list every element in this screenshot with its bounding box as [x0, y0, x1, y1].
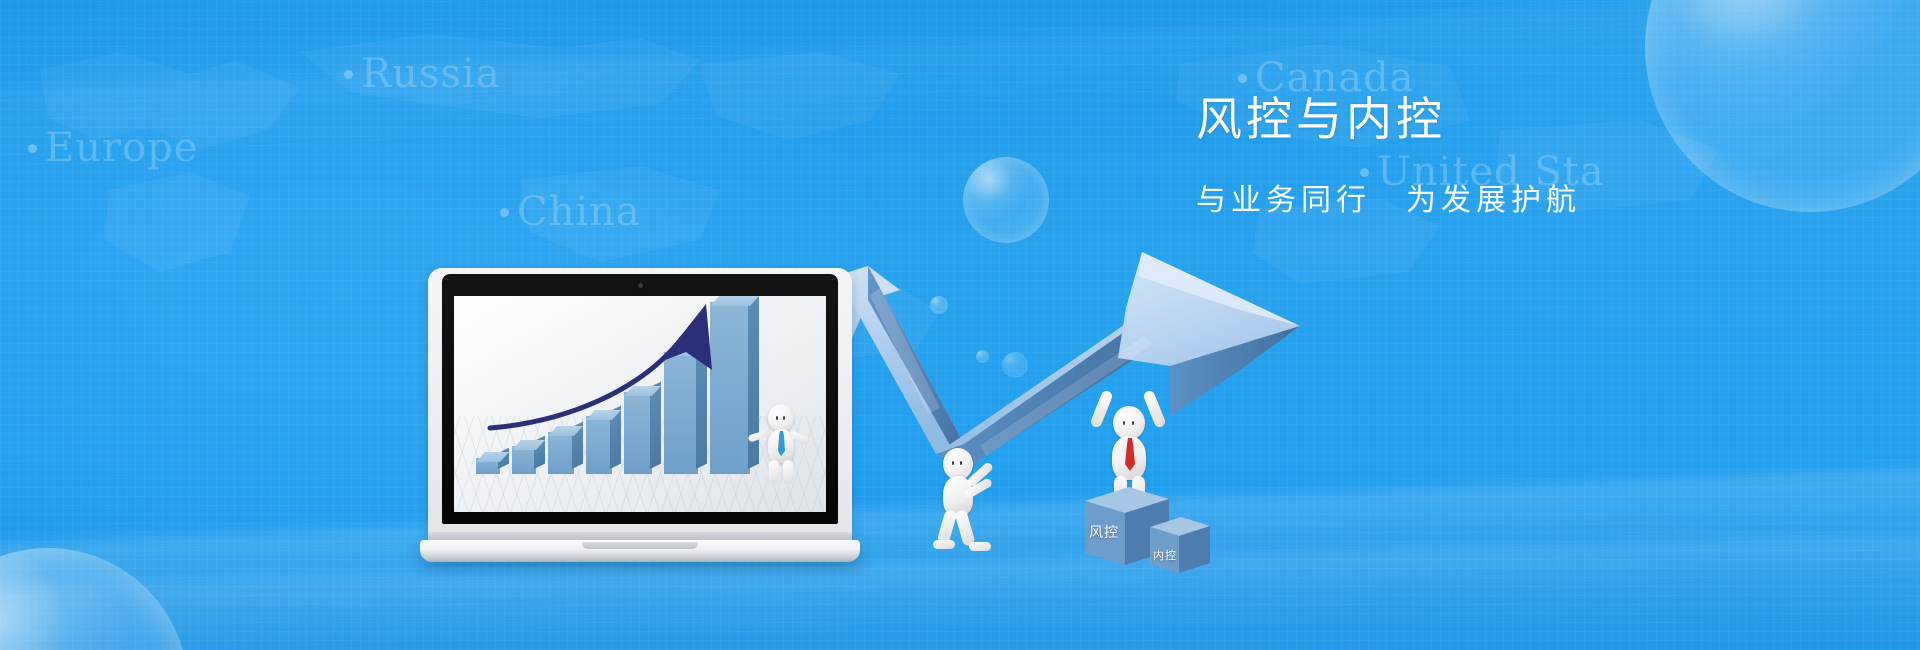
banner-subtitle: 与业务同行 为发展护航	[1196, 186, 1756, 216]
block-internal-control-label-wrap: 内控	[1153, 544, 1177, 563]
figure-on-laptop	[756, 404, 806, 488]
figure-lifting-arrow	[1095, 392, 1165, 502]
figure-red-tie-icon	[1124, 438, 1136, 472]
figure-blue-tie-icon	[777, 431, 786, 457]
figure-head	[768, 404, 794, 432]
map-pin-dot-icon	[344, 70, 353, 79]
laptop-camera-icon	[638, 283, 643, 288]
figure-foot	[933, 540, 955, 549]
figure-leg	[769, 460, 779, 484]
block-risk-control-label-wrap: 风控	[1089, 522, 1119, 542]
headline-block: 风控与内控 与业务同行 为发展护航	[1196, 96, 1756, 216]
map-pin-dot-icon	[28, 144, 37, 153]
block-internal-control: 内控	[1150, 526, 1194, 566]
map-label-china: China	[500, 186, 641, 235]
laptop-screen	[454, 296, 826, 512]
laptop-lid	[428, 268, 852, 536]
laptop-mockup	[420, 268, 860, 590]
block-risk-control-label: 风控	[1089, 525, 1119, 541]
laptop-bezel	[442, 274, 838, 524]
figure-pushing-arrow	[935, 448, 1007, 548]
figure-foot	[969, 542, 991, 551]
map-label-europe: Europe	[28, 122, 198, 171]
map-label-russia: Russia	[344, 48, 501, 97]
block-risk-control: 风控	[1085, 500, 1147, 556]
laptop-trackpad-notch	[582, 542, 698, 549]
banner-title: 风控与内控	[1196, 96, 1756, 142]
hero-banner: Russia Europe China Canada United Sta 风控…	[0, 0, 1920, 650]
figure-arm	[1142, 389, 1166, 428]
map-pin-dot-icon	[1238, 74, 1247, 83]
figure-head	[1113, 406, 1145, 440]
map-pin-dot-icon	[500, 208, 509, 217]
figure-leg	[783, 460, 793, 484]
block-internal-control-label: 内控	[1153, 549, 1177, 562]
